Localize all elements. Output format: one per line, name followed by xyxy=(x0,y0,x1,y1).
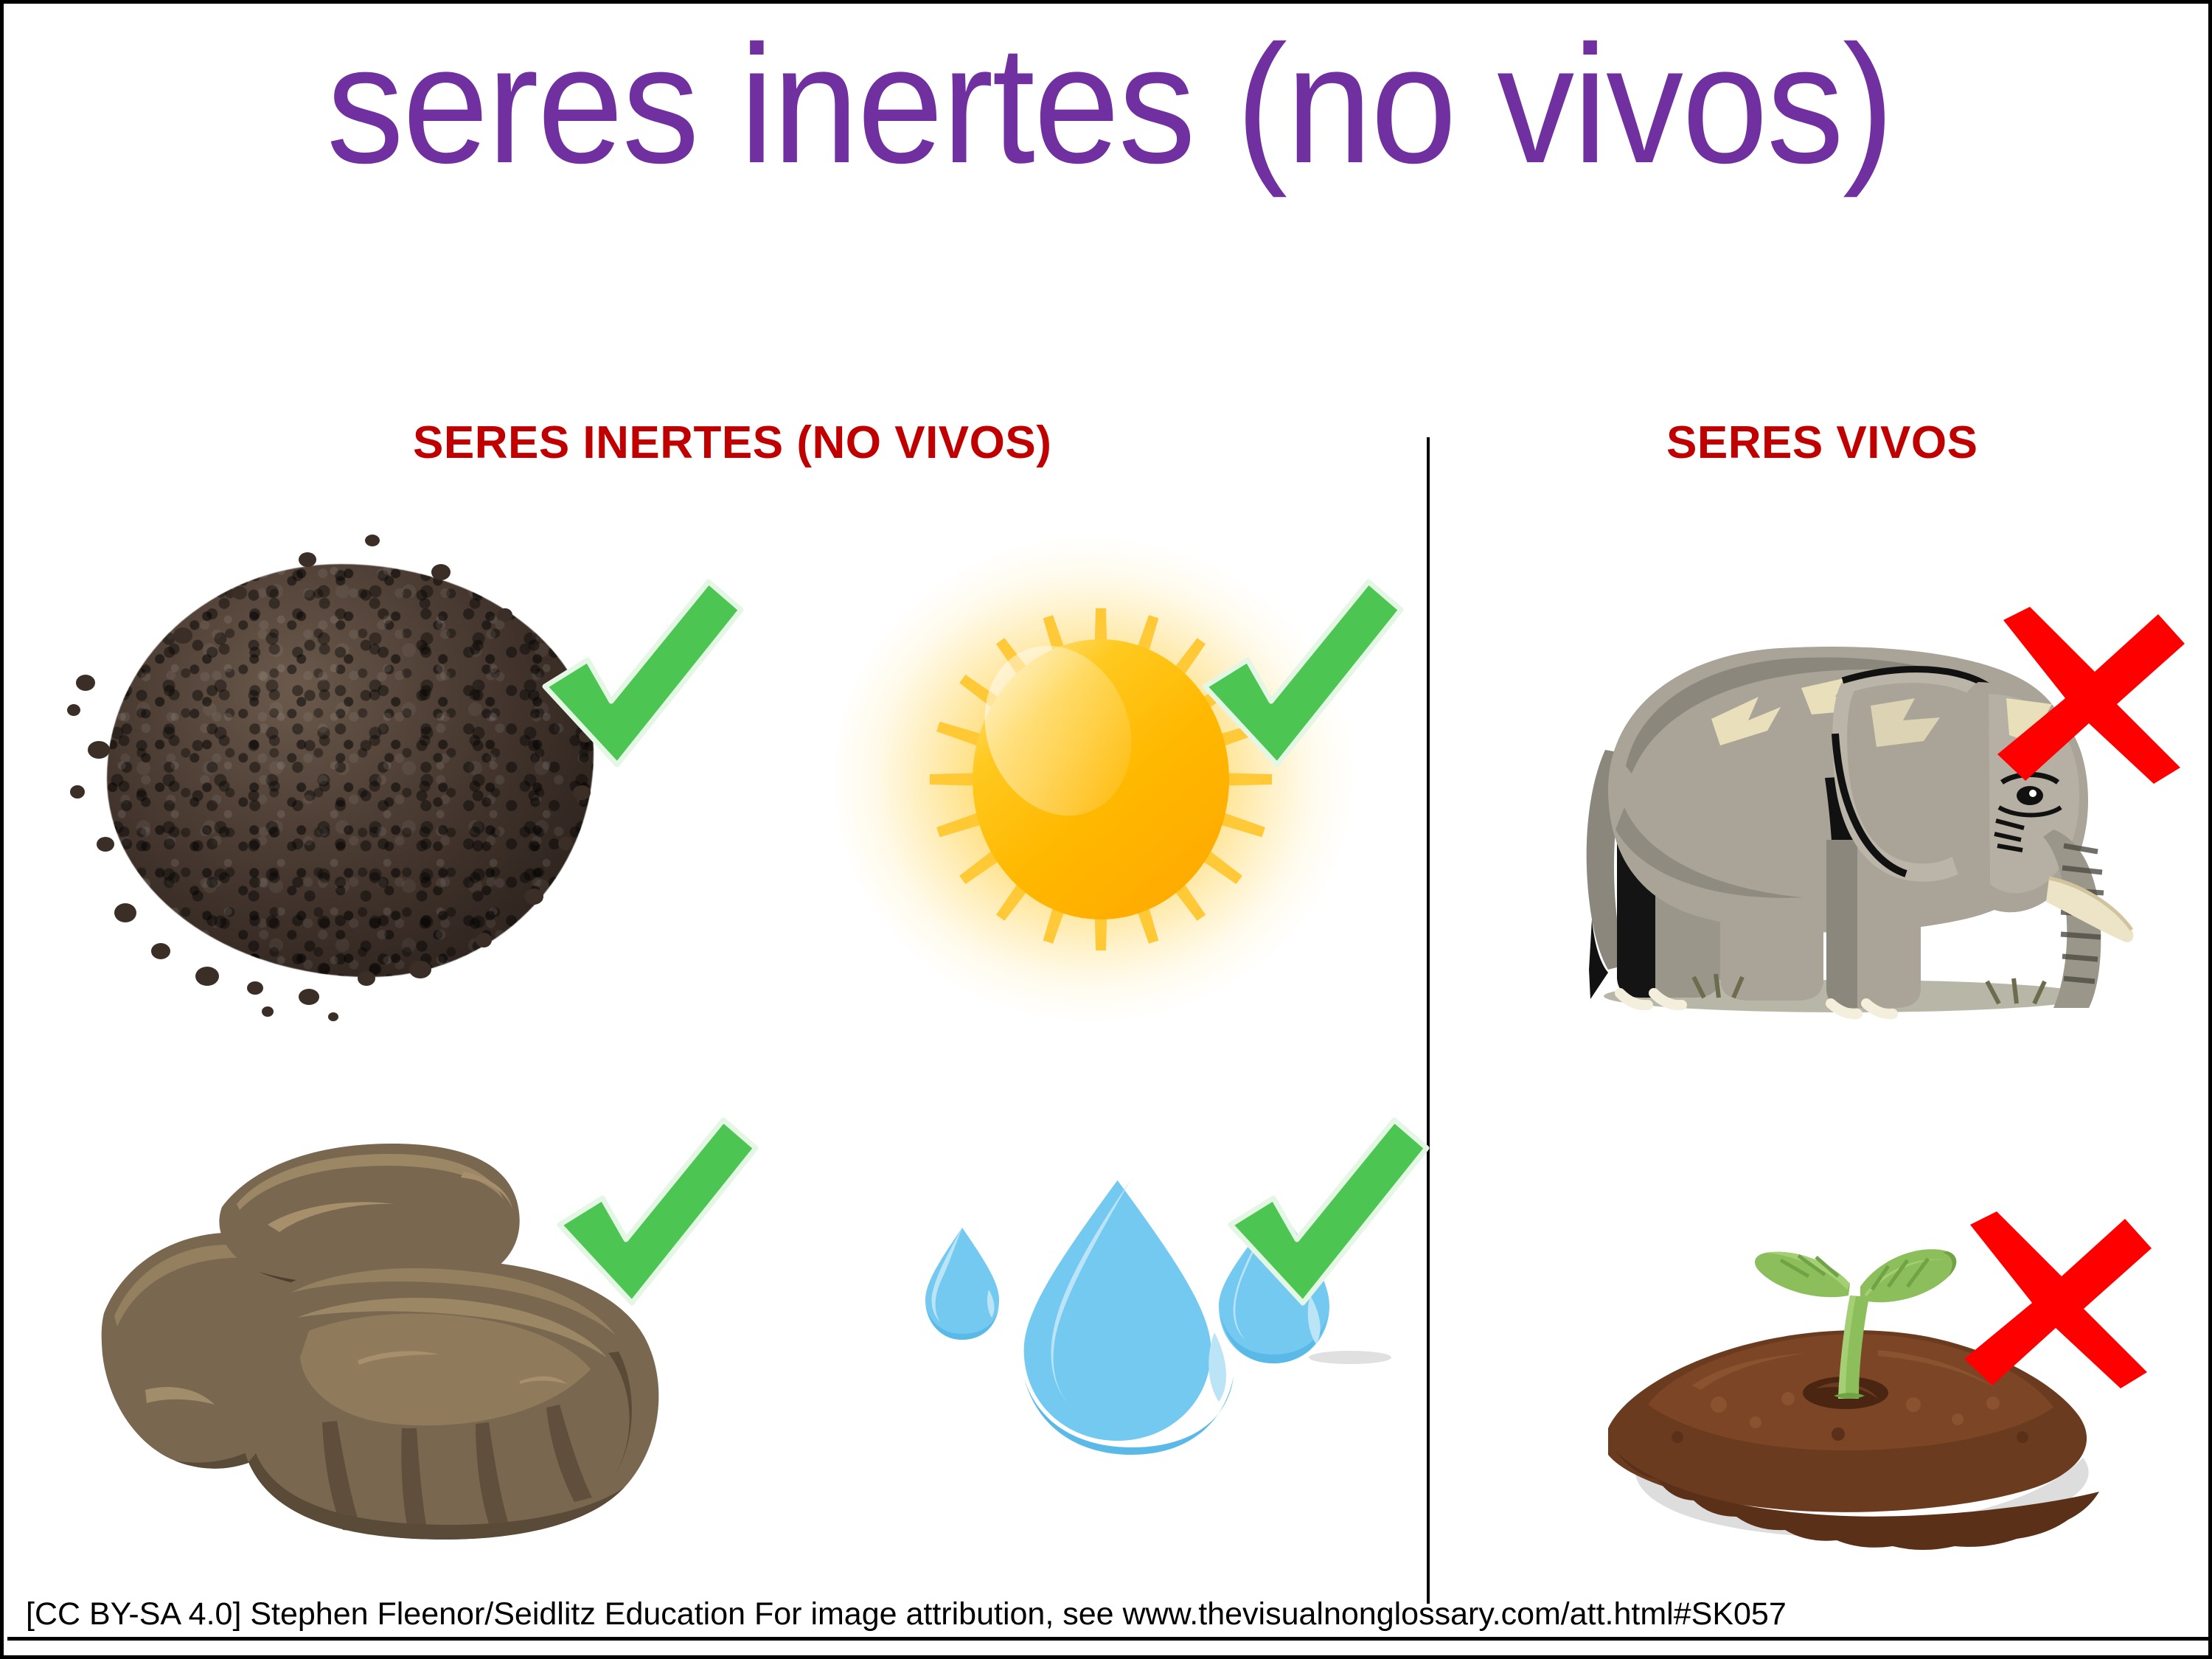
attribution-text: [CC BY-SA 4.0] Stephen Fleenor/Seidlitz … xyxy=(26,1597,1787,1632)
page-title: seres inertes (no vivos) xyxy=(92,17,2127,193)
poster-canvas: seres inertes (no vivos) SERES INERTES (… xyxy=(0,0,2212,1659)
column-header-nonliving: SERES INERTES (NO VIVOS) xyxy=(413,417,1051,469)
column-header-living: SERES VIVOS xyxy=(1666,417,1978,469)
green-check-icon xyxy=(549,1110,763,1331)
green-check-icon xyxy=(1220,1110,1434,1331)
footer-divider xyxy=(7,1637,2212,1641)
green-check-icon xyxy=(1194,571,1408,793)
red-x-icon xyxy=(1987,601,2194,785)
column-divider xyxy=(1427,437,1430,1604)
green-check-icon xyxy=(535,571,748,793)
red-x-icon xyxy=(1954,1206,2160,1390)
